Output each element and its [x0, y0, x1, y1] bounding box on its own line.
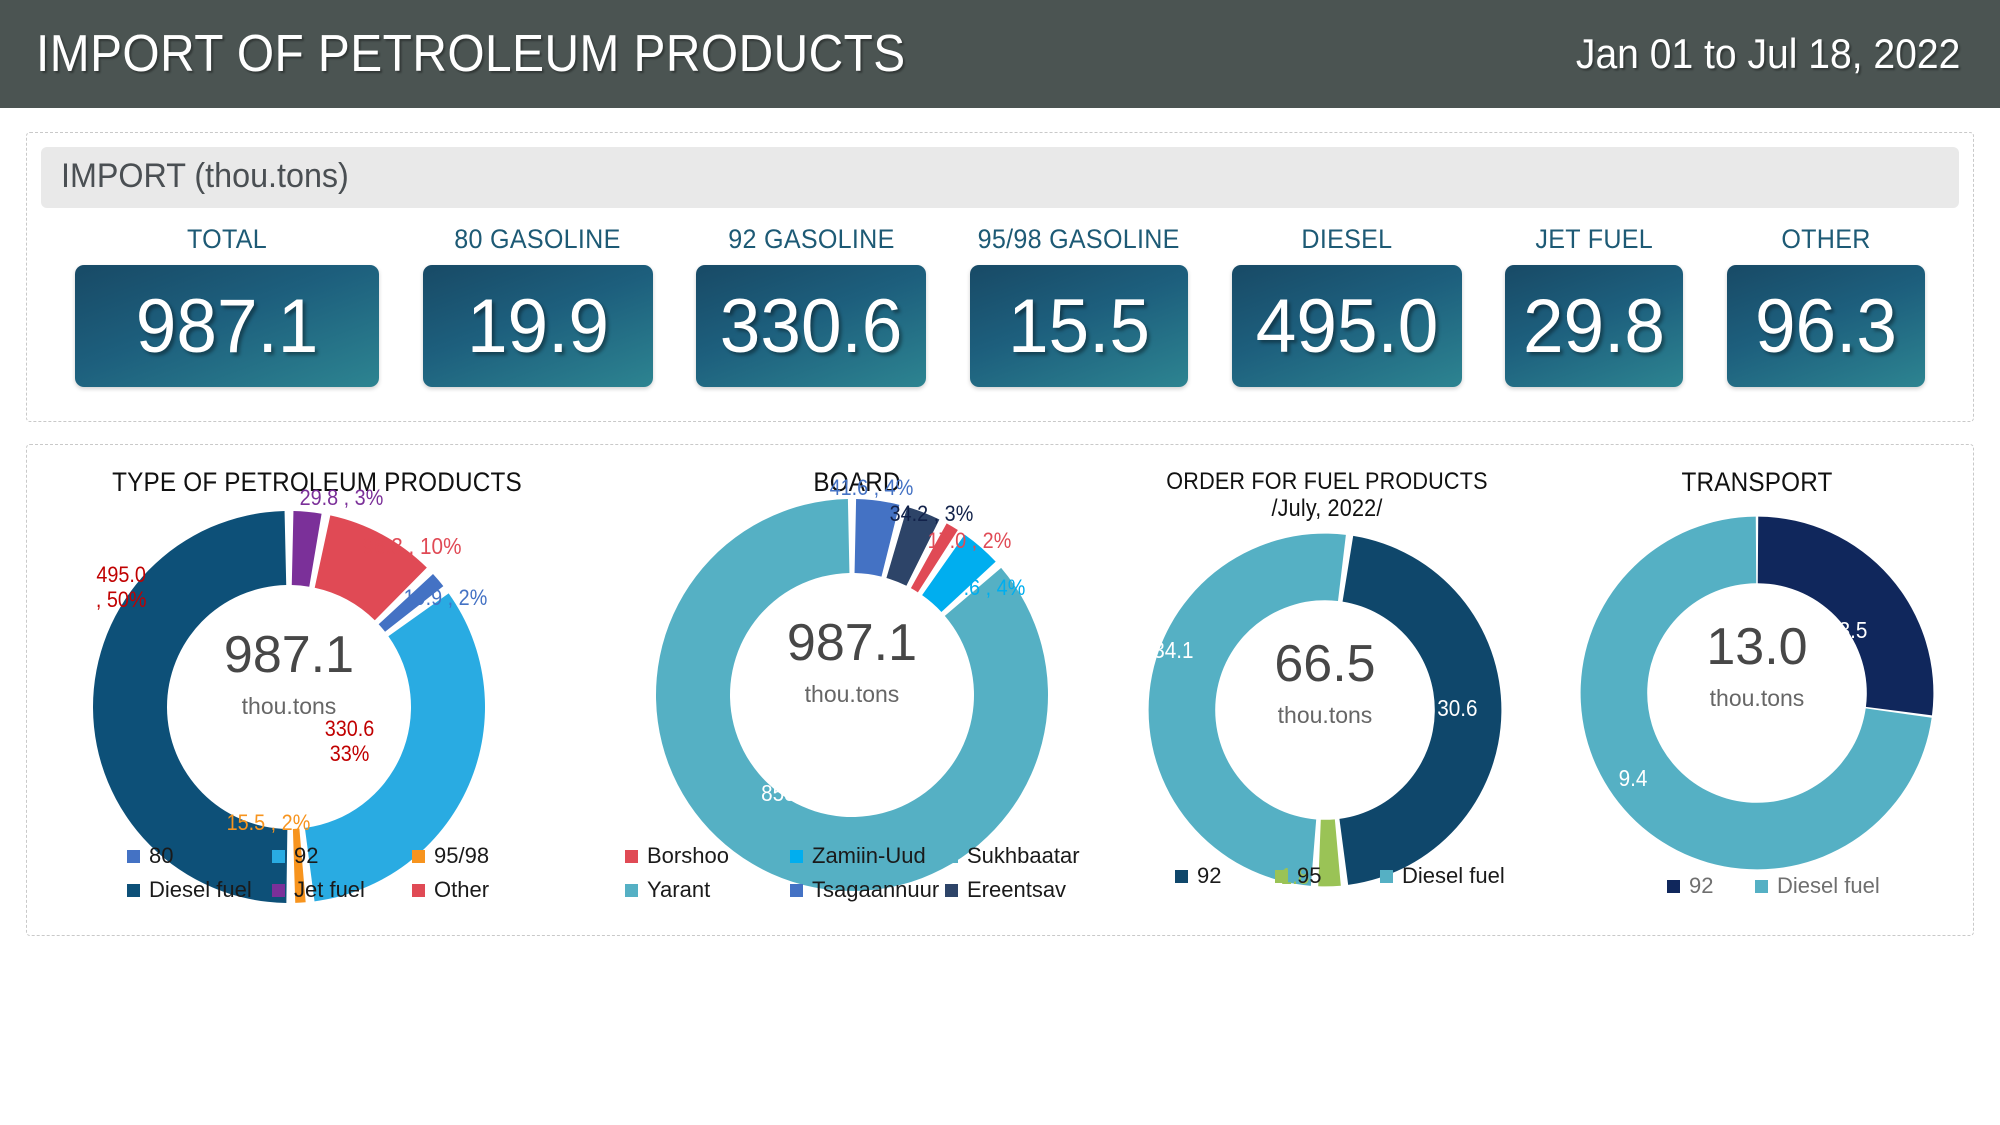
legend-swatch-92-icon — [272, 850, 285, 863]
donut-label-80: 19.9 , 2% — [404, 585, 488, 611]
import-section-label: IMPORT (thou.tons) — [61, 157, 1845, 196]
legend-item-yarant[interactable]: Yarant — [625, 877, 790, 903]
legend-swatch-order-diesel-fuel-icon — [1380, 870, 1393, 883]
donut-label-92: 330.6 33% — [325, 717, 375, 766]
donut-label-transport-diesel: 9.4 — [1619, 765, 1648, 792]
chart-title-order-sub: /July, 2022/ — [1129, 496, 1525, 523]
donut-label-9598: 15.5 , 2% — [227, 810, 311, 836]
kpi-card-other[interactable]: OTHER 96.3 — [1727, 224, 1925, 387]
import-kpi-panel: IMPORT (thou.tons) TOTAL 987.1 80 GASOLI… — [26, 132, 1974, 422]
legend-swatch-diesel-fuel-icon — [127, 884, 140, 897]
page-header: IMPORT OF PETROLEUM PRODUCTS Jan 01 to J… — [0, 0, 2000, 108]
legend-order: 92 95 Diesel fuel — [1175, 863, 1535, 897]
legend-swatch-jet-fuel-icon — [272, 884, 285, 897]
legend-label-9598: 95/98 — [434, 843, 489, 869]
legend-transport: 92 Diesel fuel — [1667, 873, 1967, 907]
kpi-label-jet-fuel: JET FUEL — [1535, 224, 1653, 255]
legend-item-sukhbaatar[interactable]: Sukhbaatar — [945, 843, 1080, 869]
legend-label-ereentsav: Ereentsav — [967, 877, 1066, 903]
donut-board[interactable]: 987.1 thou.tons — [652, 495, 1052, 895]
legend-item-other[interactable]: Other — [412, 877, 489, 903]
legend-label-diesel-fuel: Diesel fuel — [149, 877, 252, 903]
donut-transport[interactable]: 13.0 thou.tons — [1577, 513, 1937, 873]
legend-label-sukhbaatar: Sukhbaatar — [967, 843, 1080, 869]
donut-label-zamiin-uud: 39.6 , 4% — [942, 575, 1026, 601]
kpi-card-total[interactable]: TOTAL 987.1 — [75, 224, 379, 387]
chart-order-for-fuel-products: ORDER FOR FUEL PRODUCTS /July, 2022/ 66.… — [1107, 445, 1547, 935]
legend-type: 80 92 95/98 Diesel fuel Jet fuel Other — [127, 843, 547, 911]
kpi-card-80-gasoline[interactable]: 80 GASOLINE 19.9 — [423, 224, 653, 387]
donut-label-diesel-value: 495.0 — [96, 563, 147, 588]
legend-item-jet-fuel[interactable]: Jet fuel — [272, 877, 412, 903]
chart-title-order-main: ORDER FOR FUEL PRODUCTS — [1129, 469, 1525, 496]
kpi-card-row: TOTAL 987.1 80 GASOLINE 19.9 92 GASOLINE… — [27, 208, 1973, 387]
legend-item-9598[interactable]: 95/98 — [412, 843, 489, 869]
chart-title-order: ORDER FOR FUEL PRODUCTS /July, 2022/ — [1129, 445, 1525, 523]
legend-swatch-yarant-icon — [625, 884, 638, 897]
legend-label-order-diesel-fuel: Diesel fuel — [1402, 863, 1505, 889]
chart-type-of-petroleum-products: TYPE OF PETROLEUM PRODUCTS 987.1 thou.to… — [27, 445, 607, 935]
kpi-value-other: 96.3 — [1755, 283, 1897, 370]
donut-label-transport-92: 3.5 — [1839, 617, 1868, 644]
legend-item-zamiin-uud[interactable]: Zamiin-Uud — [790, 843, 945, 869]
legend-swatch-zamiin-uud-icon — [790, 850, 803, 863]
legend-label-80: 80 — [149, 843, 173, 869]
legend-item-92[interactable]: 92 — [272, 843, 412, 869]
legend-swatch-ereentsav-icon — [945, 884, 958, 897]
kpi-box-92-gasoline: 330.6 — [696, 265, 926, 387]
legend-board: Borshoo Zamiin-Uud Sukhbaatar Yarant Tsa… — [625, 843, 1095, 911]
kpi-label-92-gasoline: 92 GASOLINE — [728, 224, 894, 255]
chart-transport: TRANSPORT 13.0 thou.tons 3.5 9.4 92 Dies… — [1547, 445, 1967, 935]
kpi-label-diesel: DIESEL — [1301, 224, 1392, 255]
kpi-box-diesel: 495.0 — [1232, 265, 1462, 387]
donut-label-sukhbaatar: 853.6 , 87% — [761, 780, 871, 807]
donut-label-diesel: 495.0 , 50% — [96, 563, 147, 612]
kpi-card-9598-gasoline[interactable]: 95/98 GASOLINE 15.5 — [970, 224, 1188, 387]
import-section-header: IMPORT (thou.tons) — [41, 147, 1959, 208]
donut-label-order-diesel: 34.1 — [1153, 637, 1193, 664]
charts-panel: TYPE OF PETROLEUM PRODUCTS 987.1 thou.to… — [26, 444, 1974, 936]
donut-label-tsagaannuur: 41.6 , 4% — [830, 475, 914, 501]
page-title: IMPORT OF PETROLEUM PRODUCTS — [36, 24, 906, 84]
legend-swatch-order-92-icon — [1175, 870, 1188, 883]
kpi-value-jet-fuel: 29.8 — [1523, 283, 1665, 370]
legend-label-jet-fuel: Jet fuel — [294, 877, 365, 903]
legend-swatch-9598-icon — [412, 850, 425, 863]
legend-label-order-92: 92 — [1197, 863, 1221, 889]
legend-swatch-transport-92-icon — [1667, 880, 1680, 893]
legend-swatch-tsagaannuur-icon — [790, 884, 803, 897]
kpi-label-80-gasoline: 80 GASOLINE — [454, 224, 620, 255]
kpi-card-92-gasoline[interactable]: 92 GASOLINE 330.6 — [696, 224, 926, 387]
donut-label-92-pct: 33% — [325, 742, 375, 767]
kpi-card-diesel[interactable]: DIESEL 495.0 — [1232, 224, 1462, 387]
kpi-label-other: OTHER — [1781, 224, 1870, 255]
kpi-value-92-gasoline: 330.6 — [720, 283, 903, 370]
donut-svg-board — [652, 495, 1052, 895]
legend-item-tsagaannuur[interactable]: Tsagaannuur — [790, 877, 945, 903]
legend-swatch-order-95-icon — [1275, 870, 1288, 883]
legend-label-order-95: 95 — [1297, 863, 1321, 889]
kpi-box-jet-fuel: 29.8 — [1505, 265, 1683, 387]
date-range-label: Jan 01 to Jul 18, 2022 — [1576, 30, 1960, 78]
donut-svg-transport — [1577, 513, 1937, 873]
legend-item-order-diesel-fuel[interactable]: Diesel fuel — [1380, 863, 1505, 889]
kpi-box-total: 987.1 — [75, 265, 379, 387]
chart-title-transport: TRANSPORT — [1568, 445, 1946, 497]
donut-label-borshoo: 17.0 , 2% — [928, 528, 1012, 554]
legend-item-borshoo[interactable]: Borshoo — [625, 843, 790, 869]
legend-label-borshoo: Borshoo — [647, 843, 729, 869]
legend-label-transport-diesel-fuel: Diesel fuel — [1777, 873, 1880, 899]
legend-label-92: 92 — [294, 843, 318, 869]
kpi-box-80-gasoline: 19.9 — [423, 265, 653, 387]
kpi-card-jet-fuel[interactable]: JET FUEL 29.8 — [1505, 224, 1683, 387]
legend-label-other: Other — [434, 877, 489, 903]
legend-label-yarant: Yarant — [647, 877, 710, 903]
legend-label-tsagaannuur: Tsagaannuur — [812, 877, 939, 903]
legend-swatch-borshoo-icon — [625, 850, 638, 863]
kpi-value-total: 987.1 — [136, 283, 319, 370]
kpi-box-9598-gasoline: 15.5 — [970, 265, 1188, 387]
donut-slice-diesel-fuel[interactable] — [1149, 534, 1346, 886]
legend-item-order-95[interactable]: 95 — [1275, 863, 1380, 889]
donut-slice-jet-fuel[interactable] — [292, 511, 322, 587]
legend-item-80[interactable]: 80 — [127, 843, 272, 869]
donut-label-other: 96.3 , 10% — [362, 533, 461, 560]
legend-item-order-92[interactable]: 92 — [1175, 863, 1275, 889]
chart-board: BOARD 987.1 thou.tons 41.6 , 4% 34.2 , 3… — [607, 445, 1107, 935]
legend-item-ereentsav[interactable]: Ereentsav — [945, 877, 1066, 903]
legend-swatch-80-icon — [127, 850, 140, 863]
legend-swatch-transport-diesel-fuel-icon — [1755, 880, 1768, 893]
kpi-box-other: 96.3 — [1727, 265, 1925, 387]
kpi-value-9598-gasoline: 15.5 — [1008, 283, 1150, 370]
legend-item-transport-diesel-fuel[interactable]: Diesel fuel — [1755, 873, 1880, 899]
kpi-label-9598-gasoline: 95/98 GASOLINE — [978, 224, 1180, 255]
legend-label-zamiin-uud: Zamiin-Uud — [812, 843, 926, 869]
donut-label-diesel-pct: , 50% — [96, 588, 147, 613]
legend-swatch-other-icon — [412, 884, 425, 897]
donut-label-ereentsav: 34.2 , 3% — [890, 501, 974, 527]
kpi-value-80-gasoline: 19.9 — [467, 283, 609, 370]
legend-label-transport-92: 92 — [1689, 873, 1713, 899]
donut-label-92-value: 330.6 — [325, 717, 375, 742]
legend-item-diesel-fuel[interactable]: Diesel fuel — [127, 877, 272, 903]
legend-item-transport-92[interactable]: 92 — [1667, 873, 1755, 899]
kpi-label-total: TOTAL — [187, 224, 267, 255]
donut-label-jet-fuel: 29.8 , 3% — [300, 485, 384, 511]
legend-swatch-sukhbaatar-icon — [945, 850, 958, 863]
kpi-value-diesel: 495.0 — [1255, 283, 1438, 370]
donut-label-order-92: 30.6 — [1437, 695, 1477, 722]
donut-slice-92[interactable] — [1758, 517, 1934, 716]
